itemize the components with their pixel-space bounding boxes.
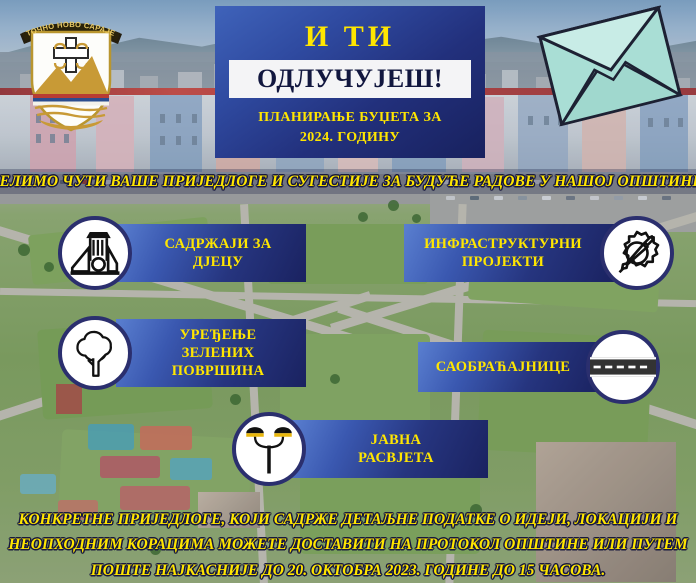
category-sadrzaji-za-djecu[interactable]: САДРЖАЈИ ЗА ДЈЕЦУ — [58, 216, 306, 290]
subtitle-line-2: 2024. ГОДИНУ — [215, 128, 485, 148]
road-icon — [586, 330, 660, 404]
playground-slide-icon — [58, 216, 132, 290]
coat-of-arms: ИСТОЧНО НОВО САРАЈЕВО — [12, 8, 130, 136]
category-label-uredjenje-zelenih-povrsina: УРЕЂЕЊЕ ЗЕЛЕНИХ ПОВРШИНА — [116, 319, 306, 387]
category-label-line-1: ЈАВНА — [358, 431, 434, 449]
footer-line-1: КОНКРЕТНЕ ПРИЈЕДЛОГЕ, КОЈИ САДРЖЕ ДЕТАЉН… — [19, 508, 678, 532]
footer-line-2: НЕОПХОДНИМ КОРАЦИМА МОЖЕТЕ ДОСТАВИТИ НА … — [8, 533, 687, 557]
street-lamp-icon — [232, 412, 306, 486]
footer-text-block: КОНКРЕТНЕ ПРИЈЕДЛОГЕ, КОЈИ САДРЖЕ ДЕТАЉН… — [0, 506, 696, 583]
category-label-line-1: САДРЖАЈИ ЗА — [165, 235, 272, 253]
subtitle-line-1: ПЛАНИРАЊЕ БУЏЕТА ЗА — [215, 108, 485, 128]
subtitle-block: ПЛАНИРАЊЕ БУЏЕТА ЗА 2024. ГОДИНУ — [215, 108, 485, 149]
category-javna-rasvjeta[interactable]: ЈАВНА РАСВЈЕТА — [232, 412, 488, 486]
category-label-line-2: ЗЕЛЕНИХ — [172, 344, 264, 362]
category-label-line-2: ДЈЕЦУ — [165, 253, 272, 271]
category-label-line-3: ПОВРШИНА — [172, 362, 264, 380]
category-label-line-1: САОБРАЋАЈНИЦЕ — [436, 358, 571, 376]
title-line-1: И ТИ — [215, 20, 485, 54]
footer-line-3: ПОШТЕ НАЈКАСНИЈЕ ДО 20. ОКТОБРА 2023. ГО… — [91, 559, 606, 583]
gear-wrench-icon — [600, 216, 674, 290]
category-label-line-2: РАСВЈЕТА — [358, 449, 434, 467]
category-infrastrukturni-projekti[interactable]: ИНФРАСТРУКТУРНИ ПРОЈЕКТИ — [404, 216, 674, 290]
category-saobracajnice[interactable]: САОБРАЋАЈНИЦЕ — [418, 330, 660, 404]
title-highlight-box: ОДЛУЧУЈЕШ! — [229, 60, 471, 98]
category-label-infrastrukturni-projekti: ИНФРАСТРУКТУРНИ ПРОЈЕКТИ — [404, 224, 616, 282]
category-label-line-1: ИНФРАСТРУКТУРНИ — [424, 235, 582, 253]
category-label-javna-rasvjeta: ЈАВНА РАСВЈЕТА — [290, 420, 488, 478]
banner-strip: ЖЕЛИМО ЧУТИ ВАШЕ ПРИЈЕДЛОГЕ И СУГЕСТИЈЕ … — [0, 169, 696, 194]
title-line-2: ОДЛУЧУЈЕШ! — [257, 64, 443, 94]
banner-text: ЖЕЛИМО ЧУТИ ВАШЕ ПРИЈЕДЛОГЕ И СУГЕСТИЈЕ … — [0, 173, 696, 191]
category-label-saobracajnice: САОБРАЋАЈНИЦЕ — [418, 342, 602, 392]
tree-icon — [58, 316, 132, 390]
category-label-line-1: УРЕЂЕЊЕ — [172, 326, 264, 344]
category-uredjenje-zelenih-povrsina[interactable]: УРЕЂЕЊЕ ЗЕЛЕНИХ ПОВРШИНА — [58, 316, 306, 390]
category-label-sadrzaji-za-djecu: САДРЖАЈИ ЗА ДЈЕЦУ — [116, 224, 306, 282]
poster-root: ИСТОЧНО НОВО САРАЈЕВО И ТИ ОДЛУЧУЈЕШ! ПЛ… — [0, 0, 696, 583]
title-panel: И ТИ ОДЛУЧУЈЕШ! ПЛАНИРАЊЕ БУЏЕТА ЗА 2024… — [215, 6, 485, 158]
category-label-line-2: ПРОЈЕКТИ — [424, 253, 582, 271]
